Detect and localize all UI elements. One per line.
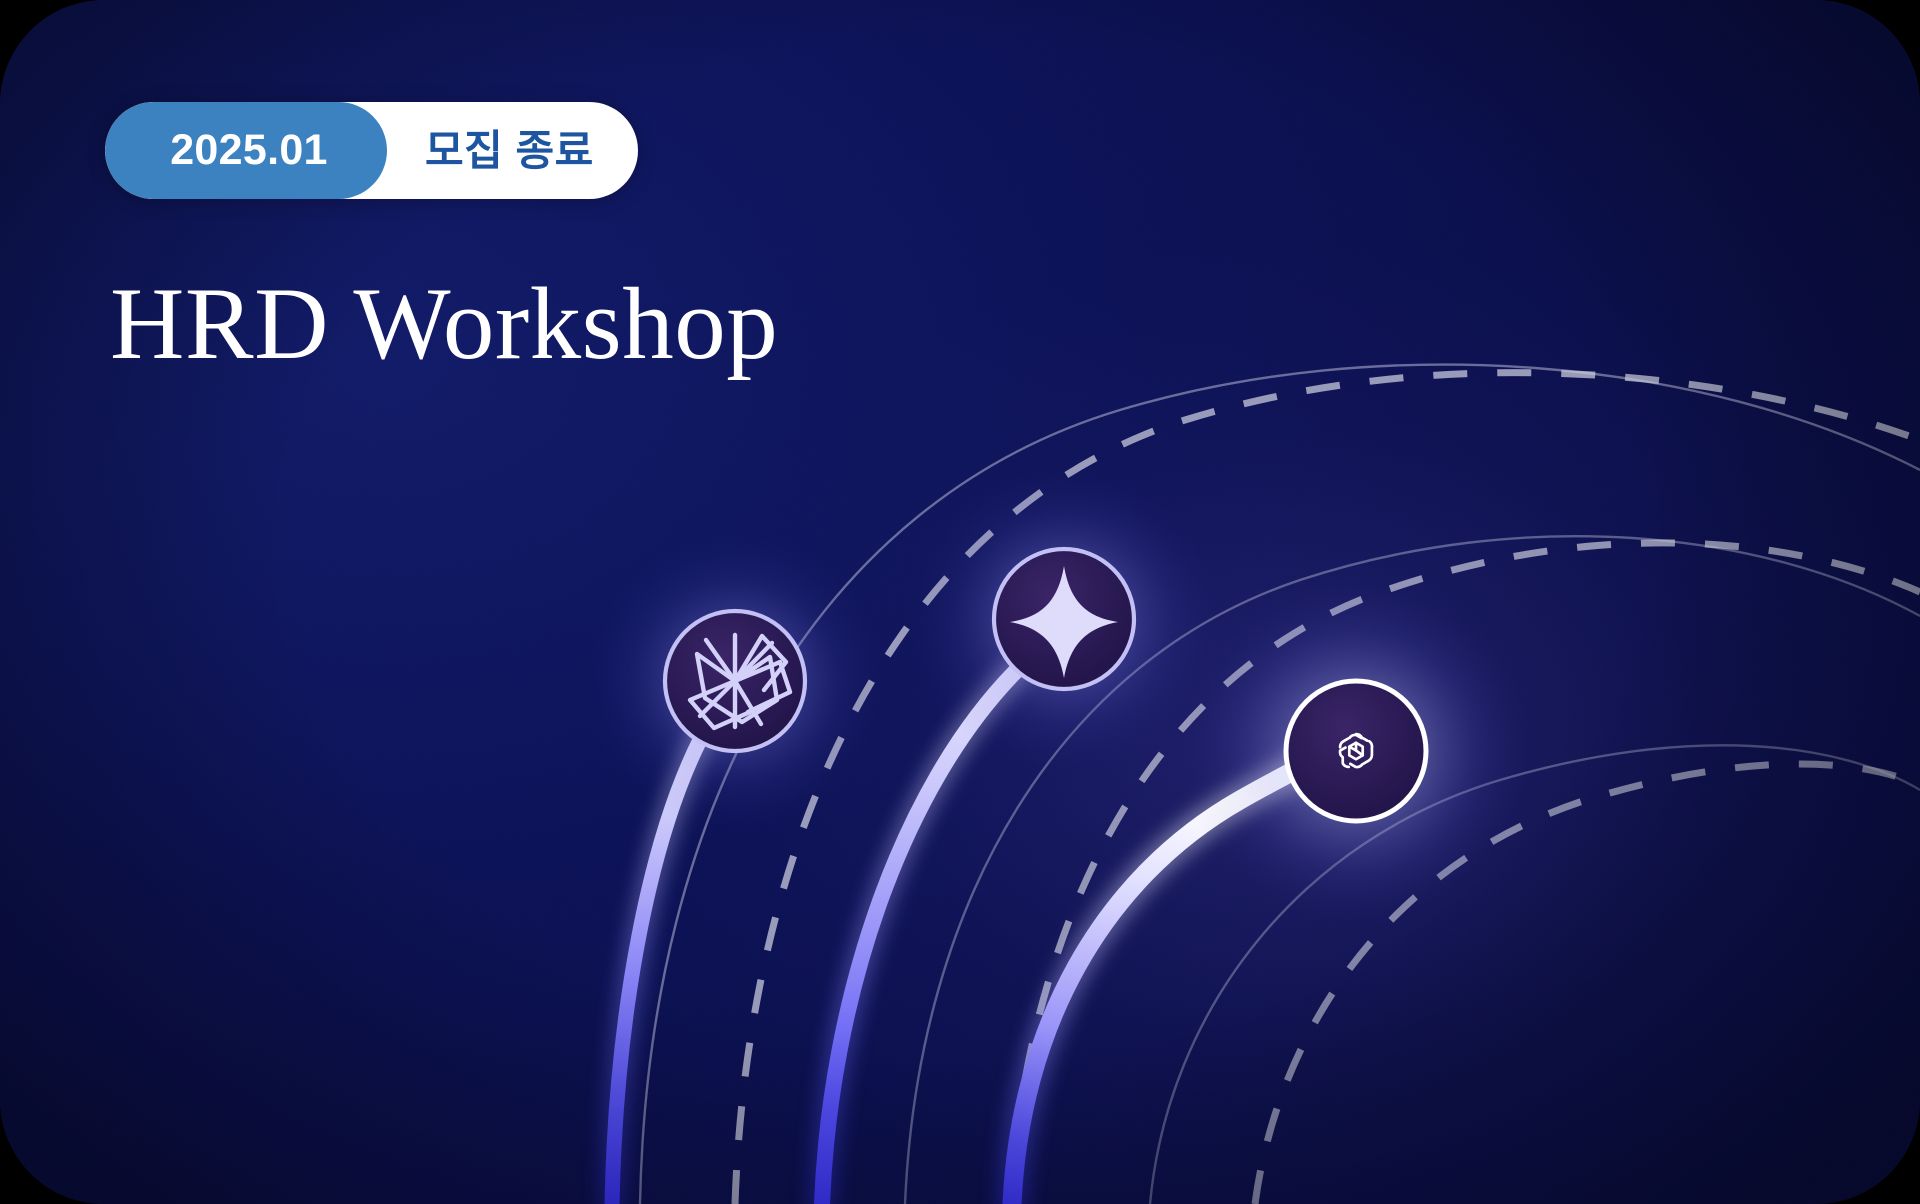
node-sparkle-star[interactable] <box>994 549 1134 689</box>
node-openai[interactable] <box>1286 681 1426 821</box>
badge-date-label: 2025.01 <box>105 102 387 199</box>
orbit-trail-group <box>612 672 1310 1204</box>
promo-card[interactable]: 2025.01 모집 종료 HRD Workshop <box>0 0 1920 1204</box>
mistral-star-icon <box>690 635 790 728</box>
node-mistral-star[interactable] <box>665 611 805 751</box>
thin-arc-group <box>640 365 1920 1204</box>
status-badge[interactable]: 2025.01 모집 종료 <box>105 102 638 199</box>
openai-logo-icon <box>1340 734 1372 767</box>
page-title: HRD Workshop <box>110 269 778 380</box>
dashed-arc-group <box>735 373 1920 1204</box>
sparkle-star-icon <box>1010 566 1118 678</box>
node-glow-group <box>585 464 1531 926</box>
badge-status-label: 모집 종료 <box>387 102 638 199</box>
